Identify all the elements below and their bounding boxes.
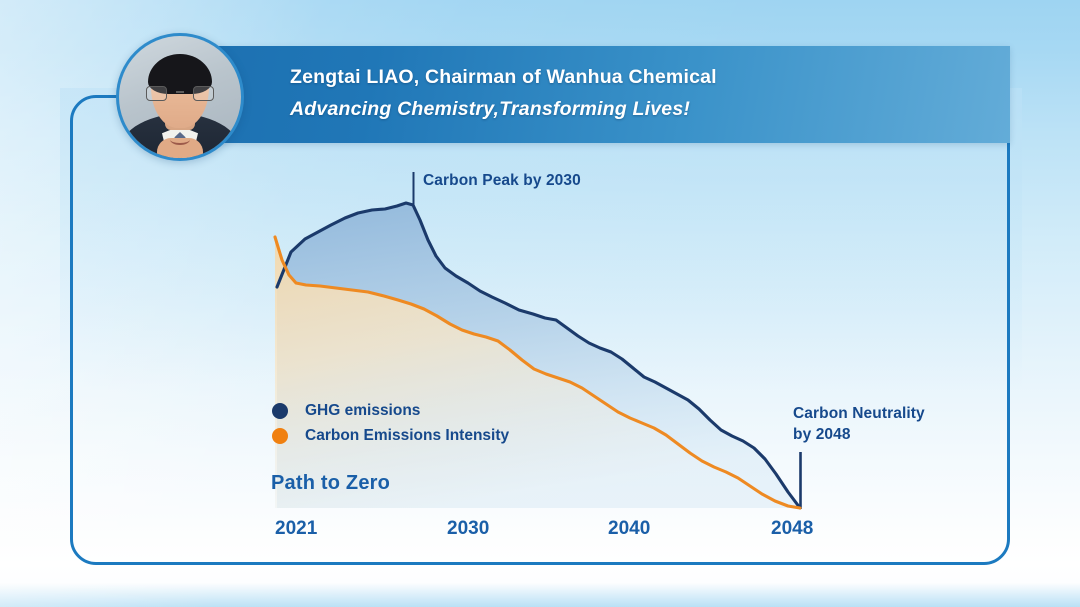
carbon-peak-annotation: Carbon Peak by 2030 — [423, 172, 581, 190]
x-tick-2021: 2021 — [275, 518, 317, 540]
legend-dot-icon-ghg — [272, 403, 288, 419]
legend-item-carbon-intensity: Carbon Emissions Intensity — [272, 423, 509, 448]
speaker-banner-text: Zengtai LIAO, Chairman of Wanhua Chemica… — [290, 62, 717, 126]
legend-label-intensity: Carbon Emissions Intensity — [305, 427, 509, 445]
content-frame-outline — [70, 95, 1010, 565]
carbon-neutrality-line1: Carbon Neutrality — [793, 403, 925, 424]
avatar-mouth — [170, 134, 190, 145]
legend-label-ghg: GHG emissions — [305, 402, 420, 420]
legend-item-ghg-emissions: GHG emissions — [272, 398, 509, 423]
carbon-neutrality-line2: by 2048 — [793, 424, 925, 445]
speaker-banner: Zengtai LIAO, Chairman of Wanhua Chemica… — [160, 46, 1010, 143]
avatar-glasses-right-lens — [193, 86, 214, 101]
avatar — [119, 36, 241, 158]
avatar-glasses-left-lens — [146, 86, 167, 101]
x-tick-2040: 2040 — [608, 518, 650, 540]
chart-title: Path to Zero — [271, 472, 390, 495]
slide-canvas: Carbon Peak by 2030 Carbon Neutrality by… — [0, 0, 1080, 607]
speaker-name-title: Zengtai LIAO, Chairman of Wanhua Chemica… — [290, 62, 717, 92]
speaker-avatar-ring — [116, 33, 244, 161]
x-tick-2030: 2030 — [447, 518, 489, 540]
chart-legend: GHG emissions Carbon Emissions Intensity — [272, 398, 509, 448]
x-tick-2048: 2048 — [771, 518, 813, 540]
speaker-tagline: Advancing Chemistry,Transforming Lives! — [290, 92, 717, 126]
carbon-neutrality-annotation: Carbon Neutrality by 2048 — [793, 403, 925, 445]
legend-dot-icon-intensity — [272, 428, 288, 444]
avatar-glasses-bridge — [176, 91, 184, 93]
